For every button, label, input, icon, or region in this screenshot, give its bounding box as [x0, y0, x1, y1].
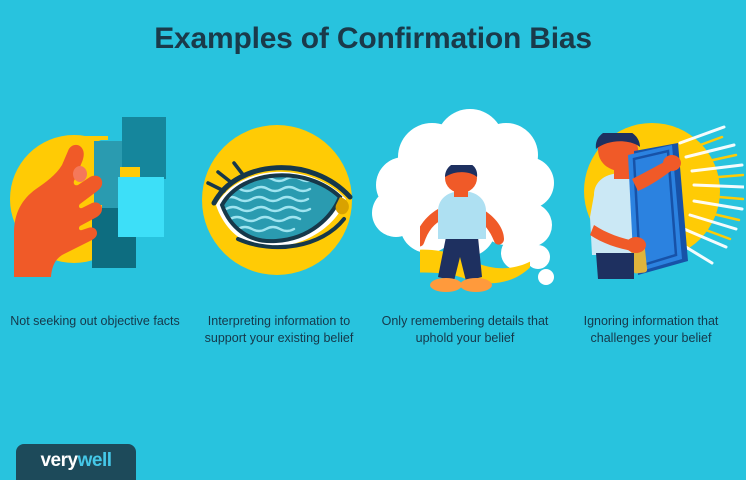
- verywell-logo[interactable]: verywell: [16, 444, 136, 480]
- panel-not-seeking-facts: Not seeking out objective facts: [2, 105, 188, 375]
- panel-only-remembering-details: Only remembering details that uphold you…: [372, 105, 558, 375]
- logo-text-very: very: [40, 450, 77, 472]
- illustration-person-with-shield: [558, 105, 744, 300]
- panel-ignoring-information: Ignoring information that challenges you…: [558, 105, 744, 375]
- page-title: Examples of Confirmation Bias: [0, 22, 746, 56]
- hand-icon: [4, 137, 124, 277]
- panel-caption: Only remembering details that uphold you…: [376, 313, 554, 347]
- illustration-person-on-thought-cloud: [372, 105, 558, 300]
- person-figure-icon: [420, 165, 530, 300]
- infographic-canvas: Examples of Confirmation Bias Not seekin…: [0, 0, 746, 480]
- panel-caption: Interpreting information to support your…: [190, 313, 368, 347]
- panel-caption: Not seeking out objective facts: [6, 313, 184, 330]
- person-with-shield-icon: [572, 133, 712, 283]
- eye-icon: [190, 135, 370, 275]
- panel-interpreting-information: Interpreting information to support your…: [186, 105, 372, 375]
- logo-text-well: well: [78, 450, 112, 472]
- document-card-cyan: [118, 177, 164, 237]
- illustration-eye: [186, 105, 372, 300]
- panel-caption: Ignoring information that challenges you…: [562, 313, 740, 347]
- illustration-hand-pushing-away-documents: [2, 105, 188, 300]
